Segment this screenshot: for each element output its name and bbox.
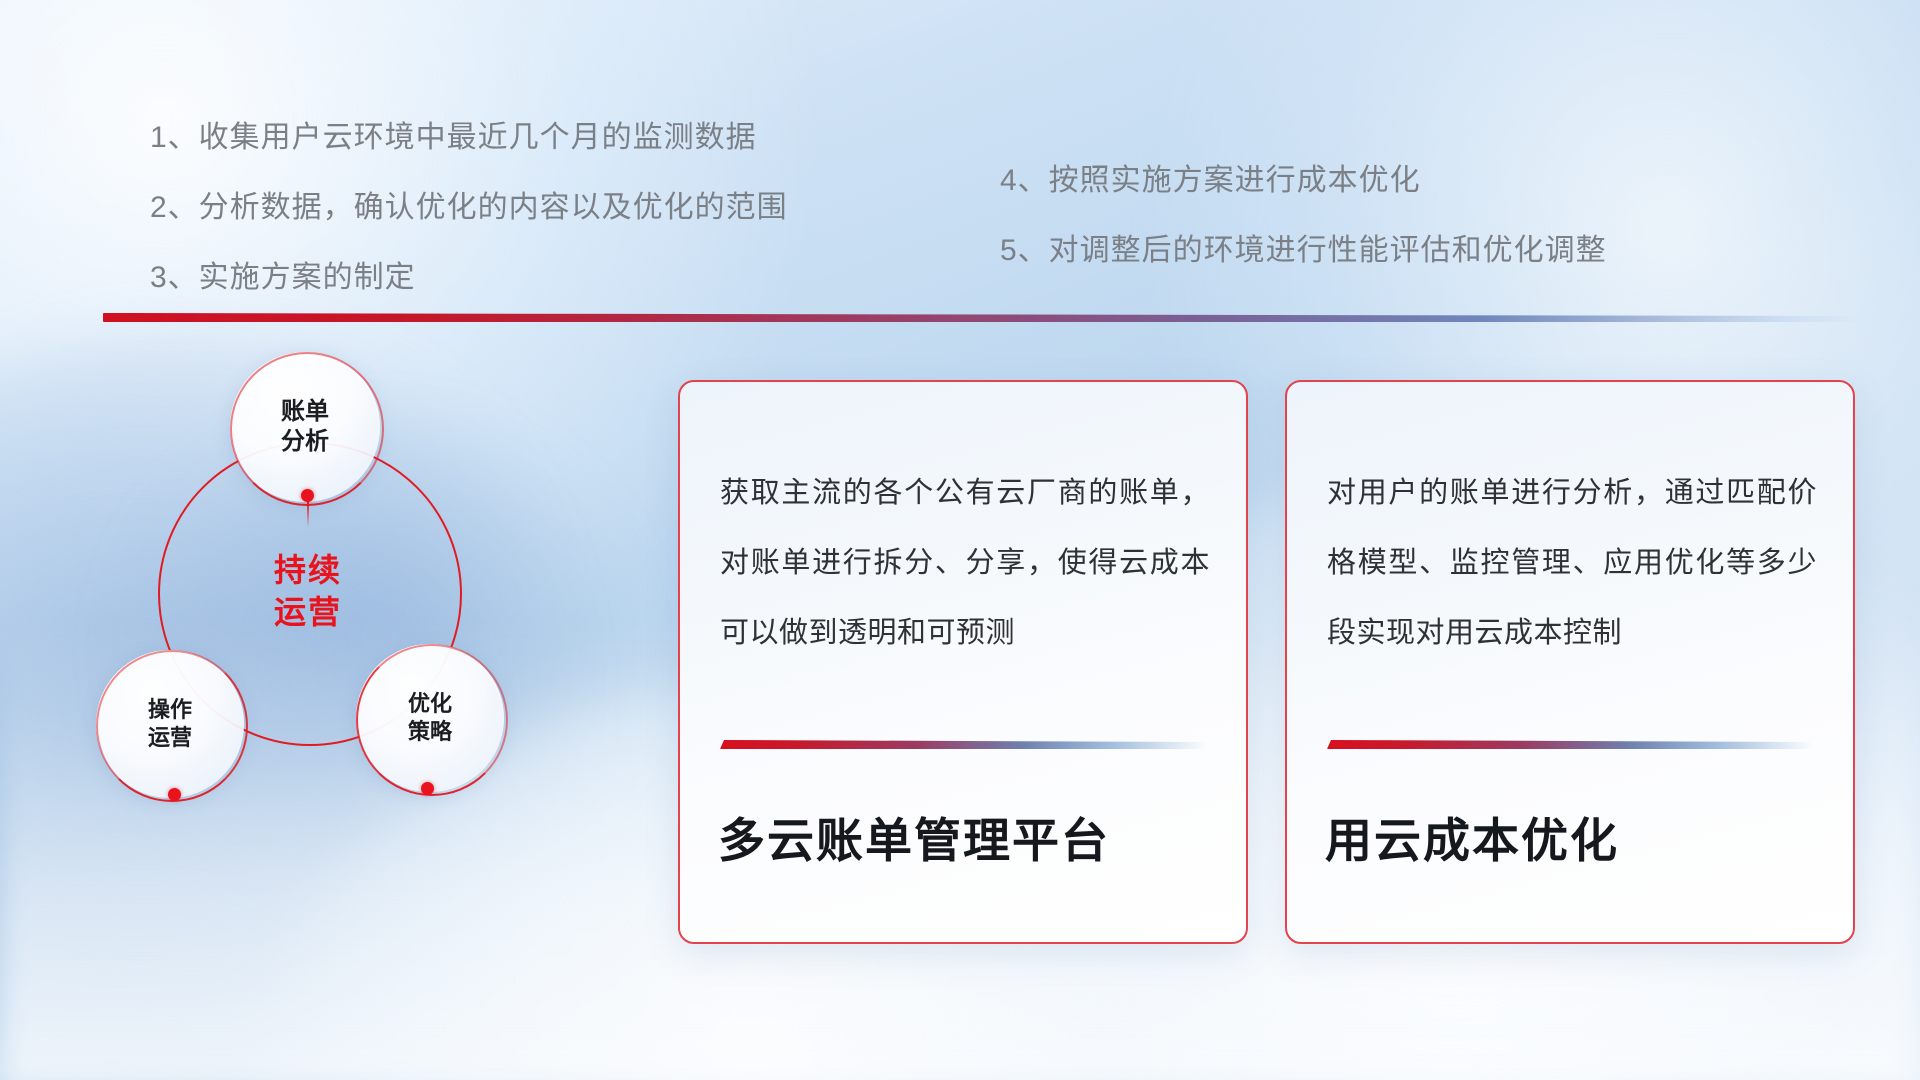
diagram-center-label: 持续 运营 [158, 442, 458, 742]
step-item-2: 2、分析数据，确认优化的内容以及优化的范围 [150, 182, 788, 226]
diagram-center-label-line2: 运营 [274, 592, 342, 634]
steps-column-left: 1、收集用户云环境中最近几个月的监测数据 2、分析数据，确认优化的内容以及优化的… [150, 112, 788, 322]
continuous-operation-diagram: 账单 分析 操作 运营 优化 策略 持续 运营 [96, 352, 616, 932]
step-item-3: 3、实施方案的制定 [150, 252, 788, 296]
diagram-dot-right-icon [421, 782, 434, 795]
steps-column-right: 4、按照实施方案进行成本优化 5、对调整后的环境进行性能评估和优化调整 [1000, 155, 1607, 295]
step-item-1: 1、收集用户云环境中最近几个月的监测数据 [150, 112, 788, 156]
feature-card-multicloud-billing-body: 获取主流的各个公有云厂商的账单，对账单进行拆分、分享，使得云成本可以做到透明和可… [720, 458, 1210, 669]
feature-card-multicloud-billing-rule [720, 740, 1206, 749]
diagram-dot-left-icon [168, 788, 181, 801]
feature-card-multicloud-billing-title: 多云账单管理平台 [718, 802, 1226, 871]
feature-card-cloud-cost-optimization-rule [1327, 740, 1813, 749]
feature-card-multicloud-billing[interactable]: 获取主流的各个公有云厂商的账单，对账单进行拆分、分享，使得云成本可以做到透明和可… [678, 380, 1248, 944]
steps-list: 1、收集用户云环境中最近几个月的监测数据 2、分析数据，确认优化的内容以及优化的… [0, 0, 1920, 300]
feature-card-cloud-cost-optimization[interactable]: 对用户的账单进行分析，通过匹配价格模型、监控管理、应用优化等多少段实现对用云成本… [1285, 380, 1855, 944]
step-item-5: 5、对调整后的环境进行性能评估和优化调整 [1000, 225, 1607, 269]
feature-card-cloud-cost-optimization-title: 用云成本优化 [1325, 802, 1833, 871]
step-item-4: 4、按照实施方案进行成本优化 [1000, 155, 1607, 199]
feature-card-cloud-cost-optimization-body: 对用户的账单进行分析，通过匹配价格模型、监控管理、应用优化等多少段实现对用云成本… [1327, 458, 1817, 669]
diagram-center-label-line1: 持续 [274, 550, 342, 592]
